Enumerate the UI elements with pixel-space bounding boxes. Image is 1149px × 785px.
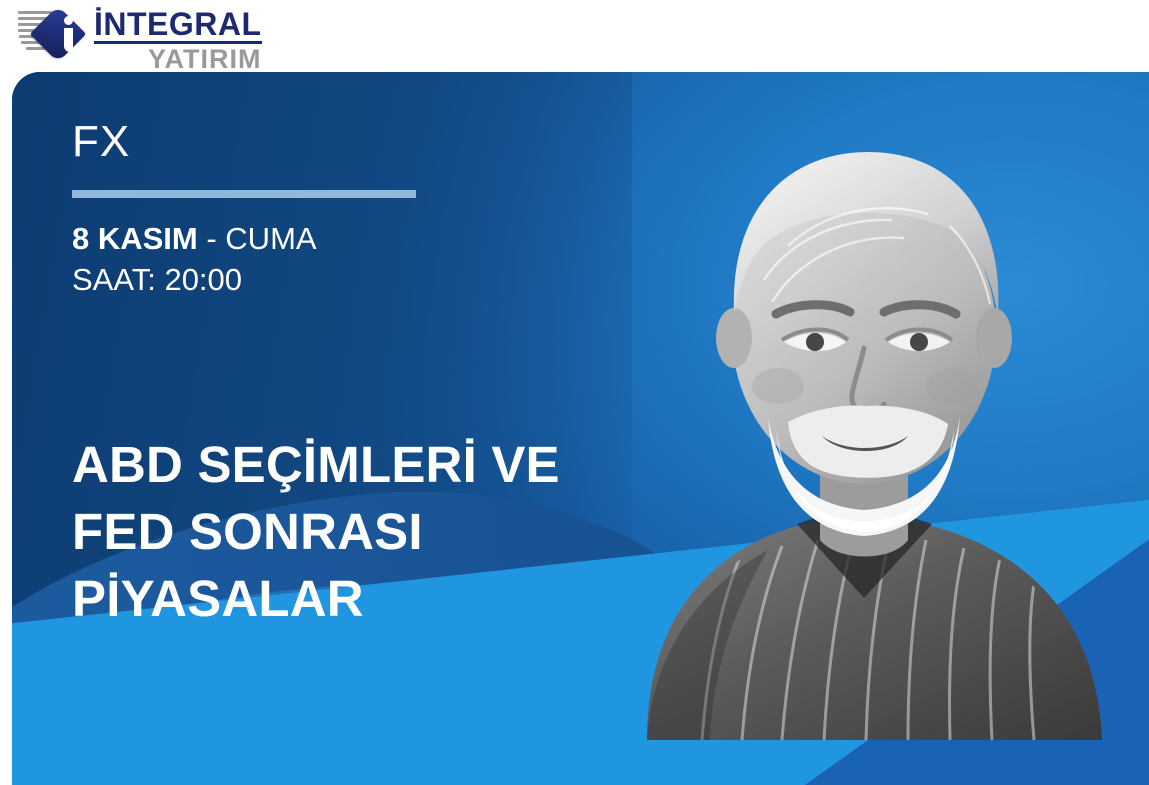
headline-line-3: PİYASALAR bbox=[72, 566, 632, 633]
speaker-portrait-photo bbox=[592, 100, 1132, 740]
event-date: 8 KASIM - CUMA bbox=[72, 220, 592, 257]
promo-banner: FX 8 KASIM - CUMA SAAT: 20:00 ABD SEÇİML… bbox=[12, 72, 1149, 785]
logo-wordmark: İNTEGRAL YATIRIM bbox=[94, 6, 262, 73]
logo-primary-text: İNTEGRAL bbox=[94, 8, 262, 44]
event-headline: ABD SEÇİMLERİ VE FED SONRASI PİYASALAR bbox=[72, 432, 632, 632]
event-info-block: FX 8 KASIM - CUMA SAAT: 20:00 bbox=[72, 120, 592, 300]
brand-logo[interactable]: İNTEGRAL YATIRIM bbox=[18, 6, 262, 64]
divider-rule bbox=[72, 190, 416, 198]
headline-line-1: ABD SEÇİMLERİ VE bbox=[72, 432, 632, 499]
logo-letter-i-icon bbox=[63, 16, 74, 52]
event-category-label: FX bbox=[72, 120, 592, 164]
promo-page: İNTEGRAL YATIRIM bbox=[0, 0, 1149, 785]
event-date-weekday: - CUMA bbox=[198, 221, 317, 256]
logo-secondary-text: YATIRIM bbox=[94, 46, 262, 73]
site-header: İNTEGRAL YATIRIM bbox=[0, 0, 1149, 72]
event-date-strong: 8 KASIM bbox=[72, 221, 198, 256]
headline-line-2: FED SONRASI bbox=[72, 499, 632, 566]
logo-mark bbox=[18, 6, 90, 62]
event-time: SAAT: 20:00 bbox=[72, 261, 592, 300]
